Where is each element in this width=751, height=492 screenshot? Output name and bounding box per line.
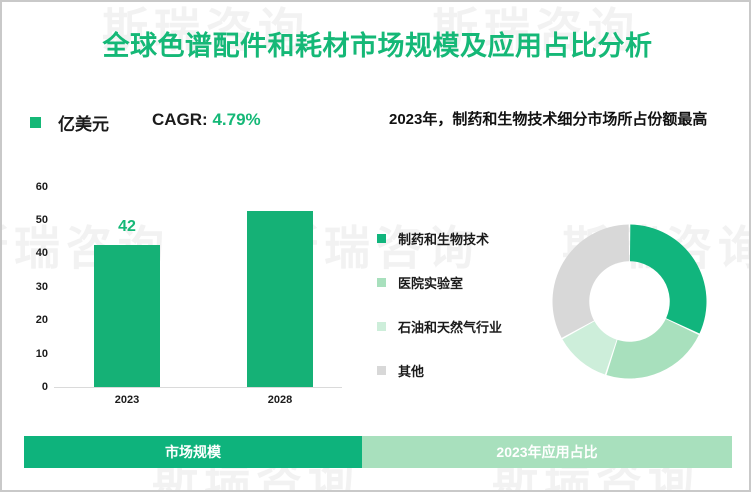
legend-label-oil-gas: 石油和天然气行业: [398, 317, 502, 336]
legend-item-others[interactable]: 其他: [377, 348, 502, 392]
legend-swatch-icon-others: [377, 366, 386, 375]
y-tick-label: 50: [20, 214, 48, 226]
tab-market-size[interactable]: 市场规模: [24, 436, 362, 468]
cagr-stat: CAGR: 4.79%: [152, 110, 261, 130]
legend-swatch-icon-pharma: [377, 234, 386, 243]
donut-slice[interactable]: [630, 225, 707, 334]
y-tick-label: 10: [20, 348, 48, 360]
legend-item-pharma[interactable]: 制药和生物技术: [377, 216, 502, 260]
page-title-text: 全球色谱配件和耗材市场规模及应用占比分析: [103, 31, 653, 61]
legend-label-others: 其他: [398, 361, 424, 380]
bar-chart: 60 50 40 30 20 10 0 42 2023 2028: [2, 2, 372, 422]
legend-label-hospital-lab: 医院实验室: [398, 273, 463, 292]
donut-chart-svg: [542, 214, 717, 389]
y-tick-label: 20: [20, 314, 48, 326]
tab-market-size-label: 市场规模: [165, 442, 221, 462]
page-title: 全球色谱配件和耗材市场规模及应用占比分析: [2, 24, 751, 63]
legend-label-pharma: 制药和生物技术: [398, 229, 489, 248]
legend-swatch-icon-hospital-lab: [377, 278, 386, 287]
bar-chart-y-axis: 60 50 40 30 20 10 0: [18, 2, 48, 422]
bar-2028: [247, 211, 313, 387]
donut-slice[interactable]: [553, 225, 630, 338]
x-tick-label-2028: 2028: [268, 394, 292, 406]
chart-tabs: 市场规模 2023年应用占比: [24, 436, 732, 468]
y-tick-label: 30: [20, 281, 48, 293]
x-tick-label-2023: 2023: [115, 394, 139, 406]
y-tick-label: 60: [20, 181, 48, 193]
bar-value-2023: 42: [118, 218, 136, 236]
bar-2023: [94, 245, 160, 387]
infographic-card: 斯瑞咨询 斯瑞咨询 斯瑞咨询 斯瑞咨询 斯瑞咨询 斯瑞咨询 斯瑞咨询 全球色谱配…: [0, 0, 751, 492]
unit-legend-label: 亿美元: [58, 110, 109, 135]
donut-slice[interactable]: [606, 319, 698, 378]
legend-swatch-icon-oil-gas: [377, 322, 386, 331]
donut-chart: [542, 214, 717, 389]
y-tick-label: 40: [20, 247, 48, 259]
tab-application-share[interactable]: 2023年应用占比: [362, 436, 732, 468]
donut-legend: 制药和生物技术 医院实验室 石油和天然气行业 其他: [377, 216, 502, 392]
cagr-value: 4.79%: [212, 110, 260, 129]
bar-chart-axis-line: [54, 387, 342, 388]
legend-item-oil-gas[interactable]: 石油和天然气行业: [377, 304, 502, 348]
tab-application-share-label: 2023年应用占比: [496, 442, 597, 462]
unit-legend-swatch-icon: [30, 117, 41, 128]
right-panel-heading: 2023年，制药和生物技术细分市场所占份额最高: [389, 106, 719, 134]
unit-legend: 亿美元: [30, 110, 109, 135]
y-tick-label: 0: [20, 381, 48, 393]
cagr-label: CAGR:: [152, 110, 212, 129]
legend-item-hospital-lab[interactable]: 医院实验室: [377, 260, 502, 304]
